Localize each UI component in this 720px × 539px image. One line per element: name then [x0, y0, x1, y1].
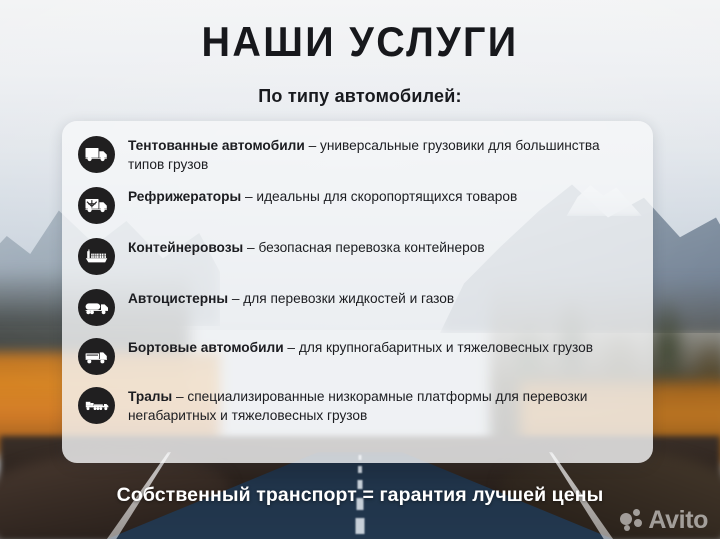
service-item-lead: Тралы [128, 389, 172, 404]
service-item-lead: Тентованные автомобили [128, 138, 305, 153]
promo-banner: НАШИ УСЛУГИ По типу автомобилей: Тентова… [0, 0, 720, 539]
container-ship-icon [78, 238, 115, 275]
service-item-desc: – специализированные низкорамные платфор… [128, 389, 587, 423]
tanker-truck-icon [78, 289, 115, 326]
avito-dot-bottom-left [624, 525, 630, 531]
service-item-text: Тралы – специализированные низкорамные п… [128, 386, 637, 426]
service-item-text: Тентованные автомобили – универсальные г… [128, 135, 637, 175]
service-item-text: Рефрижераторы – идеальны для скоропортящ… [128, 186, 517, 206]
service-item-desc: – идеальны для скоропортящихся товаров [241, 189, 517, 204]
avito-watermark: Avito [620, 508, 708, 533]
service-item-lead: Автоцистерны [128, 291, 228, 306]
avito-dot-top-right [633, 509, 640, 516]
avito-dot-large [620, 513, 632, 525]
refrigerated-truck-icon [78, 187, 115, 224]
avito-dot-bottom-right [634, 519, 642, 527]
lane-dash [358, 466, 362, 473]
service-item-tented-trucks: Тентованные автомобили – универсальные г… [78, 135, 637, 175]
service-item-desc: – для крупногабаритных и тяжеловесных гр… [284, 340, 593, 355]
service-item-refrigerators: Рефрижераторы – идеальны для скоропортящ… [78, 186, 637, 224]
lowboy-trailer-icon [78, 387, 115, 424]
service-item-desc: – для перевозки жидкостей и газов [228, 291, 454, 306]
avito-wordmark: Avito [648, 508, 708, 533]
service-item-text: Бортовые автомобили – для крупногабаритн… [128, 337, 593, 357]
service-item-container-carriers: Контейнеровозы – безопасная перевозка ко… [78, 237, 637, 275]
service-item-tankers: Автоцистерны – для перевозки жидкостей и… [78, 288, 637, 326]
page-subtitle: По типу автомобилей: [0, 86, 720, 108]
avito-logo-icon [620, 509, 643, 532]
service-item-text: Контейнеровозы – безопасная перевозка ко… [128, 237, 485, 257]
service-item-flatbed-trucks: Бортовые автомобили – для крупногабаритн… [78, 337, 637, 375]
footer-tagline: Собственный транспорт = гарантия лучшей … [0, 484, 720, 507]
service-item-lead: Рефрижераторы [128, 189, 241, 204]
lane-dash [356, 518, 365, 534]
service-item-text: Автоцистерны – для перевозки жидкостей и… [128, 288, 454, 308]
service-item-desc: – безопасная перевозка контейнеров [243, 240, 484, 255]
service-item-lowboy-trailers: Тралы – специализированные низкорамные п… [78, 386, 637, 426]
page-title: НАШИ УСЛУГИ [22, 21, 699, 63]
service-item-lead: Бортовые автомобили [128, 340, 284, 355]
box-truck-icon [78, 136, 115, 173]
flatbed-truck-icon [78, 338, 115, 375]
services-card: Тентованные автомобили – универсальные г… [62, 121, 653, 463]
service-item-lead: Контейнеровозы [128, 240, 243, 255]
